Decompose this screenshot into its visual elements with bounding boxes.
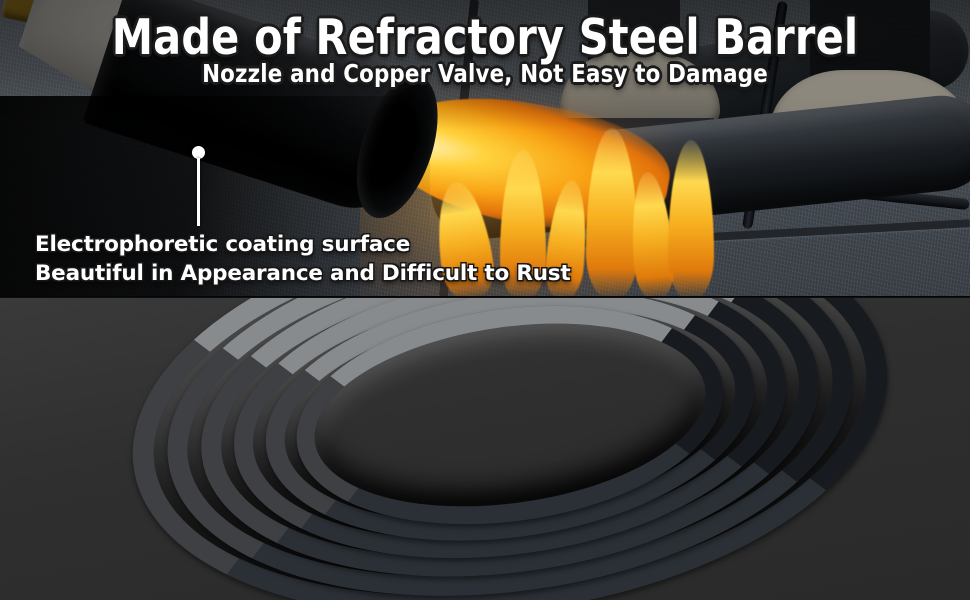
main-subtitle: Nozzle and Copper Valve, Not Easy to Dam… — [24, 58, 946, 90]
hose-coil-bundle — [60, 298, 960, 600]
bottom-panel-hose: Professional High-Pressure Rubber Gas Pi… — [0, 298, 970, 600]
coating-feature-line-1: Electrophoretic coating surface — [35, 230, 410, 259]
product-infographic: Made of Refractory Steel Barrel Nozzle a… — [0, 0, 970, 600]
coating-feature-line-2: Beautiful in Appearance and Difficult to… — [35, 259, 570, 288]
coating-leader-line — [197, 158, 200, 226]
top-panel-torch: Made of Refractory Steel Barrel Nozzle a… — [0, 0, 970, 298]
